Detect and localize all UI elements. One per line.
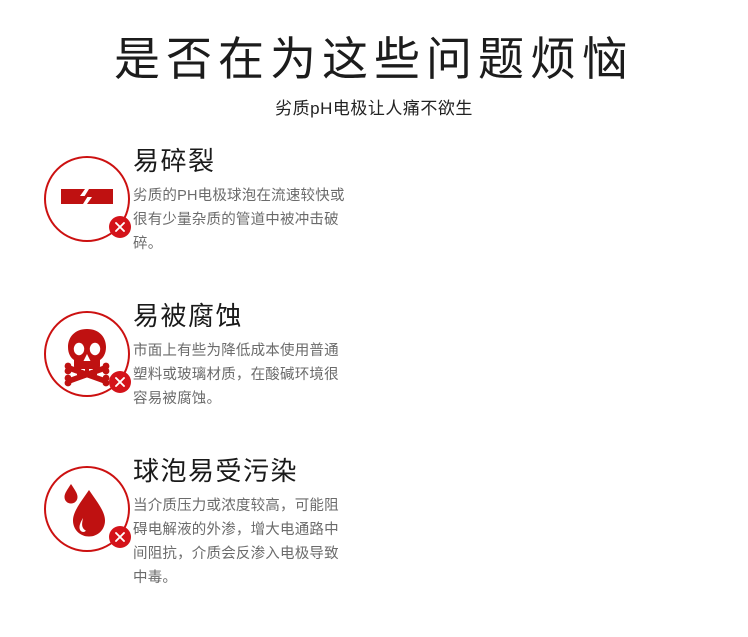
close-icon (109, 526, 131, 548)
problem-card-signal-jump: 高温时信号乱跳 当介质温度较高，会使敏感玻璃膜表面水化层中的可溶部分溶解，信号输… (374, 456, 748, 611)
icon-container (44, 466, 130, 552)
page-title: 是否在为这些问题烦恼 (0, 34, 748, 85)
page-header: 是否在为这些问题烦恼 劣质pH电极让人痛不欲生 (0, 0, 748, 119)
card-description: 市面上有些为降低成本使用普通塑料或玻璃材质，在酸碱环境很容易被腐蚀。 (133, 339, 348, 411)
problem-card-brittle: 易碎裂 劣质的PH电极球泡在流速较快或很有少量杂质的管道中被冲击破碎。 (0, 146, 374, 301)
icon-container (44, 311, 130, 397)
promo-page: 是否在为这些问题烦恼 劣质pH电极让人痛不欲生 易碎裂 劣质的PH电极球 (0, 0, 748, 637)
close-icon (109, 371, 131, 393)
icon-container (44, 156, 130, 242)
close-icon (109, 216, 131, 238)
card-title: 易被腐蚀 (133, 303, 348, 333)
problem-grid: 易碎裂 劣质的PH电极球泡在流速较快或很有少量杂质的管道中被冲击破碎。 (0, 146, 748, 611)
problem-card-contamination: 球泡易受污染 当介质压力或浓度较高，可能阻碍电解液的外渗，增大电通路中间阻抗，介… (0, 456, 374, 611)
x-badge (109, 526, 131, 548)
card-title: 易碎裂 (133, 148, 348, 178)
problem-card-corrosion: 易被腐蚀 市面上有些为降低成本使用普通塑料或玻璃材质，在酸碱环境很容易被腐蚀。 (0, 301, 374, 456)
x-badge (109, 371, 131, 393)
card-title: 球泡易受污染 (133, 458, 348, 488)
problem-card-short-life: 寿命短 PH电极的配方和壳体材质差，耗损比较快，故障率高从而寿命大大减短。 (374, 146, 748, 301)
x-badge (109, 216, 131, 238)
problem-card-inaccurate-signal: 信号不准 为了节约成本，使用劣质信号线，虚标精度，使用中信号波动大，导致测量不准… (374, 301, 748, 456)
card-description: 劣质的PH电极球泡在流速较快或很有少量杂质的管道中被冲击破碎。 (133, 184, 348, 256)
page-subtitle: 劣质pH电极让人痛不欲生 (0, 99, 748, 119)
card-description: 当介质压力或浓度较高，可能阻碍电解液的外渗，增大电通路中间阻抗，介质会反渗入电极… (133, 494, 348, 590)
